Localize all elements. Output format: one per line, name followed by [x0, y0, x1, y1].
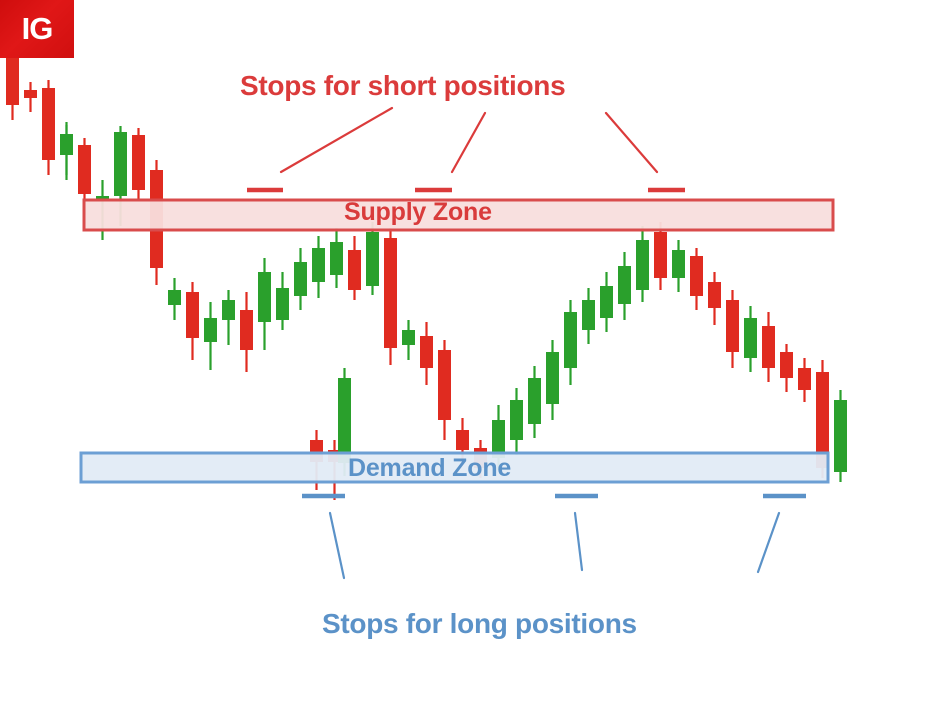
candlestick	[834, 390, 847, 482]
annotation-leader-line	[575, 513, 582, 570]
chart-canvas: IG Stops for short positions Supply Zone…	[0, 0, 949, 703]
candlestick	[546, 340, 559, 420]
annotation-leader-line	[281, 108, 392, 172]
candlestick	[420, 322, 433, 385]
candlestick	[564, 300, 577, 385]
candlestick	[690, 248, 703, 310]
annotation-leader-line	[606, 113, 657, 172]
candlestick-chart-svg	[0, 0, 949, 703]
candlestick	[762, 312, 775, 382]
candlestick	[636, 226, 649, 302]
candlestick	[510, 388, 523, 455]
candlestick	[798, 358, 811, 402]
candlestick	[780, 344, 793, 392]
candlestick	[438, 340, 451, 440]
candlestick	[726, 290, 739, 368]
ig-logo-text: IG	[22, 13, 53, 46]
candlestick	[42, 80, 55, 175]
long-stops-annotation-label: Stops for long positions	[322, 608, 637, 640]
candlestick	[312, 236, 325, 298]
candlestick	[654, 222, 667, 290]
candlestick	[708, 272, 721, 325]
candlestick	[528, 366, 541, 438]
candlestick	[168, 278, 181, 320]
candlestick	[744, 306, 757, 372]
candlestick	[402, 320, 415, 360]
candlestick	[186, 282, 199, 360]
candlestick	[582, 288, 595, 344]
candlestick	[618, 252, 631, 320]
annotation-leader-line	[330, 513, 344, 578]
candlestick	[132, 128, 145, 200]
candlestick	[222, 290, 235, 345]
candlestick	[348, 236, 361, 300]
annotation-leader-line	[758, 513, 779, 572]
candlestick	[672, 240, 685, 292]
candlestick	[294, 248, 307, 310]
candlestick	[60, 122, 73, 175]
candlestick	[366, 222, 379, 295]
candlestick	[24, 82, 37, 112]
candlestick	[240, 292, 253, 372]
candlestick	[258, 258, 271, 350]
short-stops-annotation-label: Stops for short positions	[240, 70, 565, 102]
candlestick	[600, 272, 613, 332]
ig-brand-logo: IG	[0, 0, 74, 58]
candlestick	[330, 228, 343, 288]
annotation-leader-line	[452, 113, 485, 172]
candlestick	[276, 272, 289, 330]
candlestick	[204, 302, 217, 370]
demand-zone-label: Demand Zone	[348, 454, 511, 483]
leader-lines-layer	[281, 108, 779, 578]
candlestick	[6, 48, 19, 120]
supply-zone-label: Supply Zone	[344, 198, 492, 227]
candles-layer	[6, 48, 847, 500]
candlestick	[384, 228, 397, 365]
